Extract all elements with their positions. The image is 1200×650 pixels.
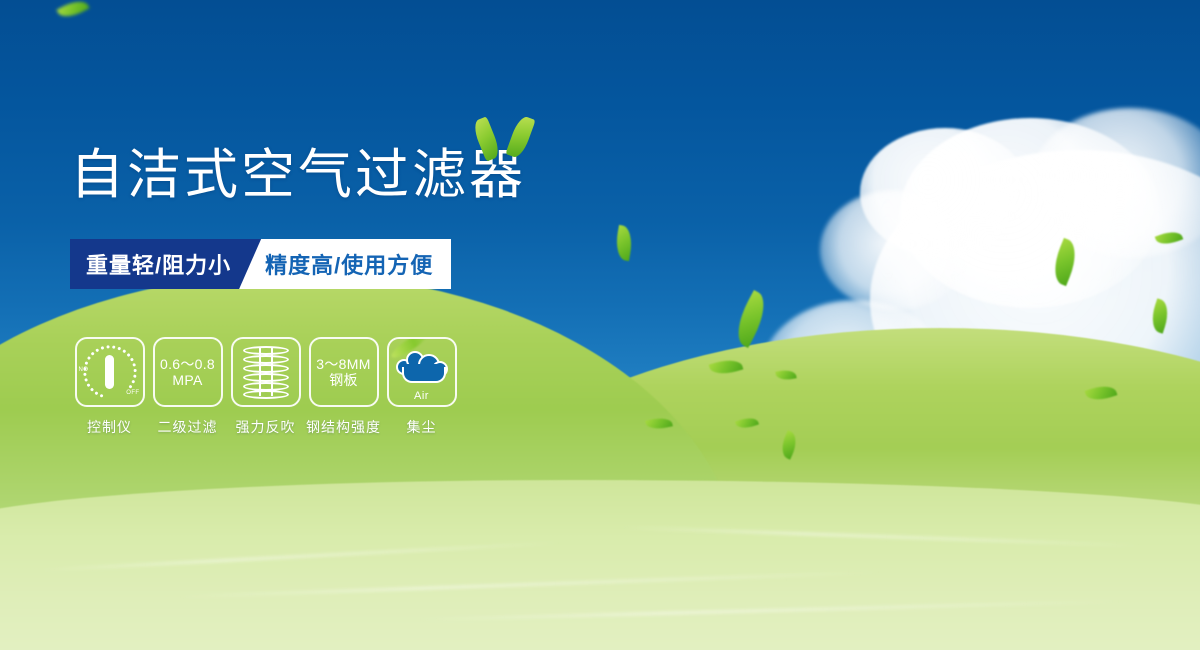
steel-value-line1: 3～8MM: [316, 356, 370, 372]
feature-icon-box: 3～8MM 钢板: [309, 337, 379, 407]
gauge-label-off: OFF: [126, 390, 139, 396]
cloud-right-puff-a: [820, 190, 970, 310]
feature-label-controller: 控制仪: [87, 417, 132, 437]
pressure-value-line2: MPA: [172, 372, 202, 388]
subtitle-right-text: 精度高/使用方便: [239, 239, 451, 289]
feature-label-blowback: 强力反吹: [236, 417, 296, 437]
sprout-leaves-icon: [474, 112, 544, 164]
subtitle-bar: 重量轻/阻力小 精度高/使用方便: [70, 239, 451, 289]
feature-icon-box: 0.6～0.8 MPA: [153, 337, 223, 407]
sprout-leaf-right: [505, 114, 535, 159]
feature-label-steel: 钢结构强度: [306, 417, 381, 437]
air-cloud-icon: [394, 345, 450, 389]
gauge-needle: [105, 355, 114, 389]
gauge-label-no: NO: [79, 367, 89, 373]
air-cloud-text: Air: [414, 390, 429, 402]
page-title: 自洁式空气过滤器: [70, 148, 526, 202]
feature-icon-box: [231, 337, 301, 407]
sprout-leaf-left: [471, 116, 502, 161]
feature-item-filtration[interactable]: 0.6～0.8 MPA 二级过滤: [150, 337, 225, 437]
feature-label-dust: 集尘: [407, 417, 437, 437]
feature-item-dust[interactable]: Air 集尘: [384, 337, 459, 437]
product-banner: 自洁式空气过滤器 重量轻/阻力小 精度高/使用方便: [0, 0, 1200, 650]
feature-item-blowback[interactable]: 强力反吹: [228, 337, 303, 437]
feature-list: NO OFF 控制仪 0.6～0.8 MPA 二级过滤: [72, 337, 459, 437]
feature-item-steel[interactable]: 3～8MM 钢板 钢结构强度: [306, 337, 381, 437]
feature-icon-box: NO OFF: [75, 337, 145, 407]
airflow-rings-icon: [243, 346, 289, 398]
pressure-value-line1: 0.6～0.8: [160, 356, 215, 372]
feature-item-controller[interactable]: NO OFF 控制仪: [72, 337, 147, 437]
gauge-icon: NO OFF: [81, 343, 139, 401]
feature-label-filtration: 二级过滤: [158, 417, 218, 437]
steel-value-line2: 钢板: [329, 372, 358, 388]
grass-field-foreground: [0, 480, 1200, 650]
subtitle-left-text: 重量轻/阻力小: [70, 239, 261, 289]
feature-icon-box: Air: [387, 337, 457, 407]
